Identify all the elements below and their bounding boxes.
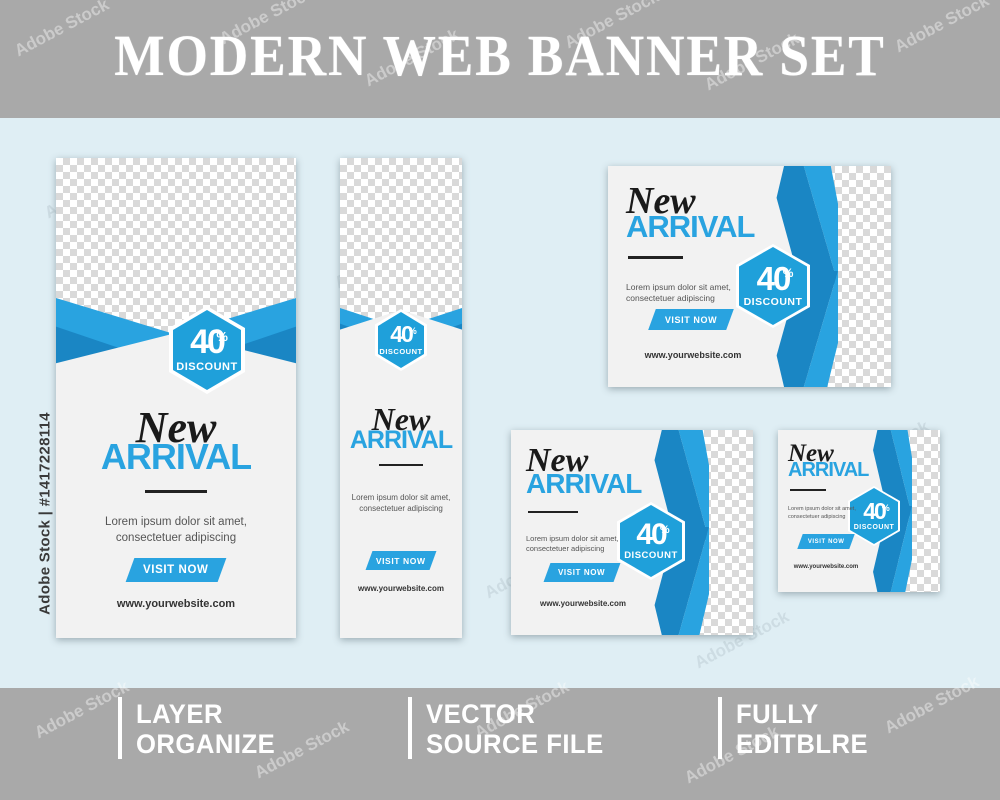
banner-vertical-large[interactable]: 40% DISCOUNT New ARRIVAL Lorem ipsum dol… (56, 158, 296, 638)
feature-line-1: FULLY (736, 699, 819, 729)
headline-script: New (56, 406, 296, 450)
headline-script: New (526, 444, 656, 478)
percent-sign: % (783, 268, 792, 279)
adobe-stock-credit: Adobe Stock | #141722811​4 (37, 399, 54, 629)
feature-label: FULLYEDITBLRE (736, 697, 868, 759)
banner-square-small[interactable]: 40% DISCOUNT New ARRIVAL Lorem ipsum dol… (778, 430, 940, 592)
page-title: MODERN WEB BANNER SET (40, 22, 960, 89)
poster-canvas: MODERN WEB BANNER SET Adobe Stock Adobe … (0, 0, 1000, 800)
divider-rule (790, 489, 826, 491)
feature-fully-editable: FULLYEDITBLRE (718, 697, 875, 759)
visit-now-button[interactable]: VISIT NOW (126, 558, 227, 582)
feature-line-1: VECTOR (426, 699, 535, 729)
cta-label: VISIT NOW (558, 568, 605, 577)
banner-horizontal-mid[interactable]: 40% DISCOUNT New ARRIVAL Lorem ipsum dol… (511, 430, 753, 635)
percent-sign: % (882, 504, 888, 512)
feature-vector-source-file: VECTORSOURCE FILE (408, 697, 613, 759)
discount-label: DISCOUNT (379, 347, 422, 356)
body-line-2: consectetuer adipiscing (626, 293, 776, 305)
website-url[interactable]: www.yourwebsite.com (511, 599, 655, 608)
divider-rule (528, 511, 578, 514)
feature-rule (118, 697, 122, 759)
website-url[interactable]: www.yourwebsite.com (778, 564, 874, 570)
discount-label: DISCOUNT (176, 361, 237, 373)
feature-label: VECTORSOURCE FILE (426, 697, 604, 759)
visit-now-button[interactable]: VISIT NOW (797, 534, 854, 549)
feature-line-2: EDITBLRE (736, 729, 868, 759)
body-text: Lorem ipsum dolor sit amet, consectetuer… (340, 492, 462, 514)
body-line-2: consectetuer adipiscing (526, 544, 656, 554)
body-line-2: consectetuer adipiscing (56, 531, 296, 547)
website-url[interactable]: www.yourwebsite.com (56, 598, 296, 610)
cta-label: VISIT NOW (143, 564, 208, 576)
visit-now-button[interactable]: VISIT NOW (366, 551, 437, 570)
feature-line-2: SOURCE FILE (426, 729, 604, 759)
website-url[interactable]: www.yourwebsite.com (608, 350, 778, 360)
body-text: Lorem ipsum dolor sit amet, consectetuer… (788, 506, 876, 521)
cta-label: VISIT NOW (376, 556, 426, 566)
banner-skyscraper[interactable]: 40% DISCOUNT New ARRIVAL Lorem ipsum dol… (340, 158, 462, 638)
body-line-1: Lorem ipsum dolor sit amet, (56, 515, 296, 531)
feature-line-1: LAYER (136, 699, 223, 729)
headline-script: New (340, 403, 462, 435)
feature-label: LAYERORGANIZE (136, 697, 275, 759)
percent-sign: % (660, 525, 668, 535)
headline-script: New (788, 441, 876, 466)
body-line-2: consectetuer adipiscing (788, 514, 876, 522)
divider-rule (628, 256, 683, 259)
percent-sign: % (216, 331, 226, 343)
percent-sign: % (409, 327, 415, 335)
visit-now-button[interactable]: VISIT NOW (648, 309, 734, 330)
feature-rule (718, 697, 722, 759)
image-placeholder (340, 158, 462, 333)
cta-label: VISIT NOW (665, 315, 717, 325)
cta-label: VISIT NOW (808, 539, 845, 545)
body-line-2: consectetuer adipiscing (340, 503, 462, 514)
divider-rule (145, 490, 207, 493)
body-line-1: Lorem ipsum dolor sit amet, (626, 282, 776, 294)
discount-number: 40% (390, 324, 412, 345)
visit-now-button[interactable]: VISIT NOW (544, 563, 621, 582)
body-text: Lorem ipsum dolor sit amet, consectetuer… (56, 515, 296, 547)
feature-layer-organize: LAYERORGANIZE (118, 697, 283, 759)
body-text: Lorem ipsum dolor sit amet, consectetuer… (626, 282, 776, 305)
discount-label: DISCOUNT (854, 524, 895, 531)
feature-line-2: ORGANIZE (136, 729, 275, 759)
headline-script: New (626, 182, 776, 220)
banner-horizontal-wide[interactable]: 40% DISCOUNT New ARRIVAL Lorem ipsum dol… (608, 166, 891, 387)
body-line-1: Lorem ipsum dolor sit amet, (526, 534, 656, 544)
body-line-1: Lorem ipsum dolor sit amet, (340, 492, 462, 503)
body-text: Lorem ipsum dolor sit amet, consectetuer… (526, 534, 656, 555)
body-line-1: Lorem ipsum dolor sit amet, (788, 506, 876, 514)
discount-number: 40% (190, 327, 224, 358)
feature-rule (408, 697, 412, 759)
website-url[interactable]: www.yourwebsite.com (340, 584, 462, 593)
divider-rule (379, 464, 423, 467)
